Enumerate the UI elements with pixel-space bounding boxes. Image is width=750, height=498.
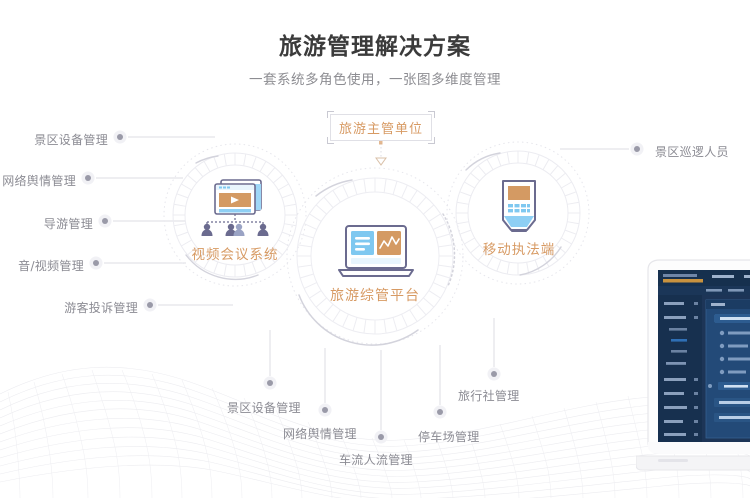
badge-stem xyxy=(376,141,386,165)
badge-corner-br xyxy=(428,137,435,144)
badge-label: 旅游主管单位 xyxy=(339,118,423,137)
node-label-center: 旅游综管平台 xyxy=(305,285,445,305)
leaf-label-bottom-3: 停车场管理 xyxy=(418,428,480,445)
badge-corner-tr xyxy=(428,111,435,118)
video-conference-icon xyxy=(193,178,277,240)
leaf-label-left-4: 游客投诉管理 xyxy=(64,299,138,316)
leaf-label-bottom-4: 旅行社管理 xyxy=(458,387,520,404)
leaf-label-bottom-0: 景区设备管理 xyxy=(227,399,301,416)
leaf-label-right-0: 景区巡逻人员 xyxy=(655,143,729,160)
leaf-label-bottom-1: 网络舆情管理 xyxy=(283,425,357,442)
infographic-canvas: 旅游管理解决方案 一套系统多角色使用，一张图多维度管理 旅游主管单位 xyxy=(0,0,750,498)
leaf-label-left-2: 导游管理 xyxy=(44,215,93,232)
leaf-label-left-1: 网络舆情管理 xyxy=(2,172,76,189)
node-label-video: 视频会议系统 xyxy=(168,243,302,263)
dashboard-preview-laptop xyxy=(636,256,750,486)
node-label-mobile: 移动执法端 xyxy=(452,238,586,258)
leaf-label-left-0: 景区设备管理 xyxy=(34,131,108,148)
badge-corner-bl xyxy=(327,137,334,144)
laptop-dashboard-icon xyxy=(336,224,416,284)
authority-badge[interactable]: 旅游主管单位 xyxy=(330,114,432,141)
leaf-label-bottom-2: 车流人流管理 xyxy=(339,451,413,468)
badge-corner-tl xyxy=(327,111,334,118)
handheld-terminal-icon xyxy=(497,178,541,240)
leaf-label-left-3: 音/视频管理 xyxy=(18,257,84,274)
